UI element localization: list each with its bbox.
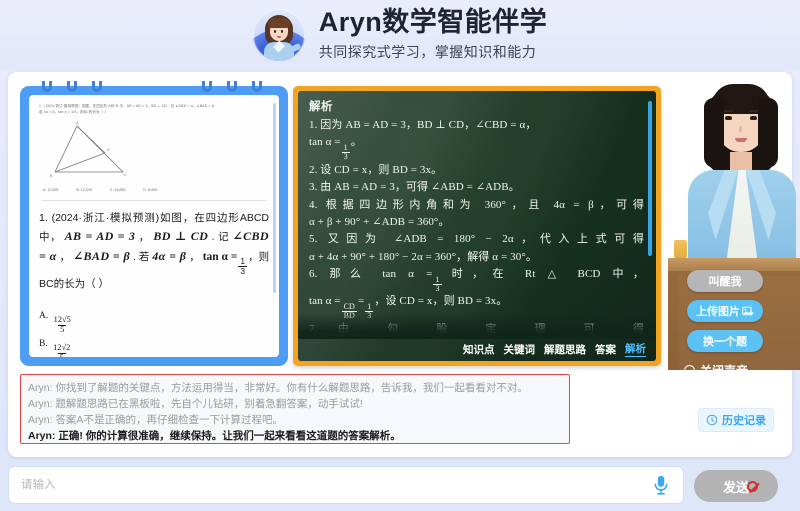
blackboard-scrollbar[interactable] bbox=[648, 101, 652, 256]
chat-input-bar[interactable] bbox=[8, 466, 684, 504]
tab-keywords[interactable]: 关键词 bbox=[504, 342, 536, 357]
svg-text:C: C bbox=[124, 173, 127, 177]
send-label: 发送 bbox=[723, 477, 749, 496]
send-button[interactable]: 发送 bbox=[694, 470, 778, 502]
tab-solution-approach[interactable]: 解题思路 bbox=[544, 342, 586, 357]
option-b-label: B. bbox=[39, 339, 48, 349]
solution-step-5b: α + 4α + 90° + 180° − 2α = 360°，解得 α = 3… bbox=[309, 249, 644, 266]
svg-text:D: D bbox=[107, 148, 110, 152]
solution-step-3: 3. 由 AB = AD = 3，可得 ∠ABD = ∠ADB。 bbox=[309, 179, 644, 196]
chat-message: Aryn: 正确! 你的计算很准确，继续保持。让我们一起来看看这道题的答案解析。 bbox=[28, 428, 562, 444]
chat-message: Aryn: 你找到了解题的关键点，方法运用得当，非常好。你有什么解题思路，告诉我… bbox=[28, 380, 562, 396]
solution-step-1a: 1. 因为 AB = AD = 3，BD ⊥ CD，∠CBD = α， bbox=[309, 117, 644, 134]
desk-cup bbox=[674, 240, 687, 260]
svg-text:B: B bbox=[50, 174, 53, 178]
chat-speaker: Aryn: bbox=[28, 382, 53, 394]
prohibited-icon bbox=[747, 481, 758, 492]
chat-log[interactable]: Aryn: 你找到了解题的关键点，方法运用得当，非常好。你有什么解题思路，告诉我… bbox=[20, 374, 570, 444]
clock-icon bbox=[706, 414, 718, 426]
step1-fraction: 13 bbox=[342, 144, 350, 162]
tab-knowledge-point[interactable]: 知识点 bbox=[463, 342, 495, 357]
option-b[interactable]: B. 12√25 bbox=[39, 335, 269, 357]
teacher-stage: 叫醒我 上传图片 换一个题 关闭声音 bbox=[668, 58, 800, 370]
problem-comma-1: ， bbox=[139, 231, 150, 243]
main-content-card: 1.（2024·浙江·模拟预测）如图，在四边形 ABCD 中，AB = AD =… bbox=[8, 72, 792, 457]
option-a-label: A. bbox=[39, 311, 48, 321]
thumb-option-d: D. 6√5/5 bbox=[143, 188, 157, 192]
blackboard-tabs: 知识点 关键词 解题思路 答案 解析 bbox=[463, 341, 646, 357]
chat-speaker: Aryn: bbox=[28, 398, 53, 410]
solution-step-4b: α + β + 90° + ∠ADB = 360°。 bbox=[309, 214, 644, 231]
chat-text: 答案A不是正确的，再仔细检查一下计算过程吧。 bbox=[55, 414, 283, 426]
thumbnail-problem-line2: 若 4α = β，tan α = 1/3，则BC的长为（ ） bbox=[39, 109, 269, 115]
notebook-scrollbar[interactable] bbox=[273, 103, 276, 293]
girl-avatar-icon bbox=[253, 9, 305, 61]
history-button[interactable]: 历史记录 bbox=[698, 408, 774, 432]
problem-ji: . 记 bbox=[212, 231, 230, 243]
answer-options: A. 12√55 B. 12√25 bbox=[39, 307, 269, 357]
tab-analysis[interactable]: 解析 bbox=[625, 341, 646, 357]
podium: 叫醒我 上传图片 换一个题 关闭声音 bbox=[668, 258, 800, 370]
problem-4alpha-beta: 4α = β bbox=[152, 249, 186, 263]
solution-step-4a: 4. 根据四边形内角和为 360°，且 4α = β，可得 bbox=[309, 197, 644, 214]
teacher-avatar bbox=[668, 58, 800, 288]
chat-message: Aryn: 答案A不是正确的，再仔细检查一下计算过程吧。 bbox=[28, 412, 562, 428]
problem-bd-perp-cd: BD ⊥ CD bbox=[153, 229, 208, 243]
solution-step-5a: 5. 又因为 ∠ADB = 180° − 2α，代入上式可得 bbox=[309, 231, 644, 248]
upload-image-label: 上传图片 bbox=[696, 303, 740, 319]
solution-step-6a: 6. 那么 tan α =13时，在 Rt △ BCD 中， bbox=[309, 266, 644, 293]
solution-step-2: 2. 设 CD = x，则 BD = 3x。 bbox=[309, 162, 644, 179]
chat-text: 正确! 你的计算很准确，继续保持。让我们一起来看看这道题的答案解析。 bbox=[58, 430, 400, 442]
page-title: Aryn数学智能伴学 bbox=[319, 8, 548, 38]
problem-notebook: 1.（2024·浙江·模拟预测）如图，在四边形 ABCD 中，AB = AD =… bbox=[20, 86, 288, 366]
chat-message: Aryn: 题解题思路已在黑板啦，先自个儿钻研，别着急翻答案，动手试试! bbox=[28, 396, 562, 412]
thumb-option-c: C. 24√5/5 bbox=[110, 188, 126, 192]
paper-divider bbox=[41, 200, 267, 201]
mute-sound-toggle[interactable]: 关闭声音 bbox=[684, 362, 784, 370]
chat-text: 你找到了解题的关键点，方法运用得当，非常好。你有什么解题思路，告诉我，我们一起看… bbox=[55, 382, 528, 394]
history-label: 历史记录 bbox=[722, 412, 766, 428]
page-subtitle: 共同探究式学习，掌握知识和能力 bbox=[319, 42, 548, 62]
thumb-option-b: B. 12√2/5 bbox=[76, 188, 91, 192]
upload-image-button[interactable]: 上传图片 bbox=[687, 300, 763, 322]
problem-ab-equation: AB = AD = 3 bbox=[65, 229, 136, 243]
blackboard-surface[interactable]: 解析 1. 因为 AB = AD = 3，BD ⊥ CD，∠CBD = α， t… bbox=[298, 91, 656, 361]
wake-me-label: 叫醒我 bbox=[709, 273, 742, 289]
problem-paper[interactable]: 1.（2024·浙江·模拟预测）如图，在四边形 ABCD 中，AB = AD =… bbox=[29, 95, 279, 357]
header-text-block: Aryn数学智能伴学 共同探究式学习，掌握知识和能力 bbox=[319, 8, 548, 62]
change-problem-label: 换一个题 bbox=[703, 333, 747, 349]
option-a-fraction: 12√55 bbox=[52, 316, 73, 335]
chat-input[interactable] bbox=[21, 479, 651, 491]
problem-ruo: . 若 bbox=[133, 251, 149, 263]
option-b-fraction: 12√25 bbox=[51, 344, 72, 357]
change-problem-button[interactable]: 换一个题 bbox=[687, 330, 763, 352]
blackboard-title: 解析 bbox=[309, 98, 644, 114]
solution-step-1b: tan α =13。 bbox=[309, 134, 644, 161]
option-a[interactable]: A. 12√55 bbox=[39, 307, 269, 335]
svg-text:A: A bbox=[76, 121, 79, 125]
chat-text: 题解题思路已在黑板啦，先自个儿钻研，别着急翻答案，动手试试! bbox=[55, 398, 362, 410]
mute-radio-icon[interactable] bbox=[684, 365, 695, 370]
problem-comma-3: ， bbox=[189, 251, 200, 263]
notebook-rings bbox=[20, 81, 288, 93]
microphone-icon[interactable] bbox=[651, 474, 671, 496]
tab-answer[interactable]: 答案 bbox=[595, 342, 616, 357]
geometry-figure-thumbnail: A B C D bbox=[47, 120, 147, 180]
wake-me-button[interactable]: 叫醒我 bbox=[687, 270, 763, 292]
blackboard-frame: 解析 1. 因为 AB = AD = 3，BD ⊥ CD，∠CBD = α， t… bbox=[293, 86, 661, 366]
step6-fraction-1: 13 bbox=[433, 276, 441, 294]
problem-tan-fraction: 13 bbox=[238, 257, 247, 276]
problem-comma-2: ， bbox=[60, 251, 71, 263]
image-upload-icon bbox=[742, 305, 754, 317]
thumb-option-a: A. 12√5/5 bbox=[43, 188, 58, 192]
problem-tan-alpha: tan α = bbox=[203, 251, 238, 263]
problem-angle-bad: ∠BAD = β bbox=[73, 249, 130, 263]
mute-sound-label: 关闭声音 bbox=[700, 362, 748, 370]
blackboard-fade-overlay bbox=[298, 313, 656, 339]
problem-statement: 1. (2024·浙江·模拟预测)如图，在四边形ABCD中， AB = AD =… bbox=[39, 210, 269, 293]
thumbnail-options: A. 12√5/5 B. 12√2/5 C. 24√5/5 D. 6√5/5 bbox=[43, 188, 269, 192]
chat-speaker: Aryn: bbox=[28, 430, 55, 442]
chat-speaker: Aryn: bbox=[28, 414, 53, 426]
